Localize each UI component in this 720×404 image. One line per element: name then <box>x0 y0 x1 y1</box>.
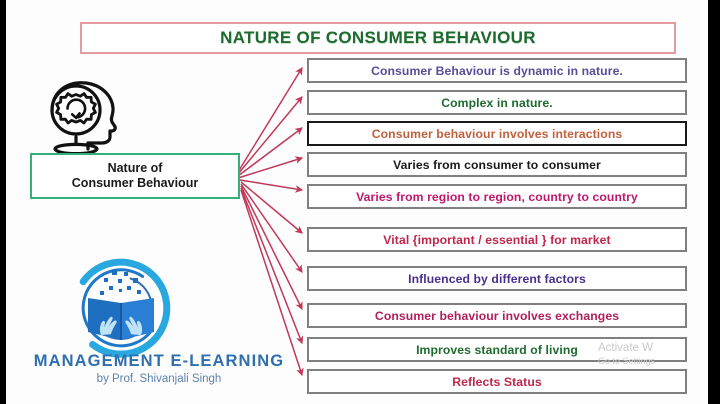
letterbox-right <box>708 0 720 404</box>
statement-box-1[interactable]: Consumer Behaviour is dynamic in nature. <box>307 58 687 83</box>
slide-title-box: NATURE OF CONSUMER BEHAVIOUR <box>80 22 676 54</box>
center-node-line1: Nature of <box>108 161 163 176</box>
open-book-with-hands-icon <box>62 258 180 358</box>
center-node-line2: Consumer Behaviour <box>72 176 198 191</box>
statement-box-6[interactable]: Vital {important / essential } for marke… <box>307 227 687 252</box>
center-node-nature-of-consumer-behaviour[interactable]: Nature of Consumer Behaviour <box>30 153 240 199</box>
statement-text-3: Consumer behaviour involves interactions <box>372 127 623 141</box>
statement-box-8[interactable]: Consumer behaviour involves exchanges <box>307 303 687 328</box>
statement-box-2[interactable]: Complex in nature. <box>307 90 687 115</box>
statement-text-2: Complex in nature. <box>441 96 553 110</box>
statement-box-10[interactable]: Reflects Status <box>307 369 687 394</box>
statement-box-3[interactable]: Consumer behaviour involves interactions <box>307 121 687 146</box>
statement-text-8: Consumer behaviour involves exchanges <box>375 309 619 323</box>
statement-text-7: Influenced by different factors <box>408 272 586 286</box>
statement-text-5: Varies from region to region, country to… <box>356 190 638 204</box>
statement-box-7[interactable]: Influenced by different factors <box>307 266 687 291</box>
statement-text-6: Vital {important / essential } for marke… <box>383 233 610 247</box>
statement-box-9[interactable]: Improves standard of living <box>307 337 687 362</box>
statement-text-4: Varies from consumer to consumer <box>393 158 601 172</box>
statement-box-5[interactable]: Varies from region to region, country to… <box>307 184 687 209</box>
page-title: NATURE OF CONSUMER BEHAVIOUR <box>220 28 536 48</box>
statement-box-4[interactable]: Varies from consumer to consumer <box>307 152 687 177</box>
statement-text-9: Improves standard of living <box>416 343 578 357</box>
logo-brand-name: MANAGEMENT E-LEARNING <box>14 352 304 371</box>
statement-text-10: Reflects Status <box>452 375 542 389</box>
head-with-gear-icon <box>36 77 140 153</box>
slide-canvas: NATURE OF CONSUMER BEHAVIOUR Nature of C… <box>0 0 720 404</box>
statement-text-1: Consumer Behaviour is dynamic in nature. <box>371 64 623 78</box>
logo-subtitle: by Prof. Shivanjali Singh <box>14 373 304 385</box>
letterbox-left <box>0 0 6 404</box>
